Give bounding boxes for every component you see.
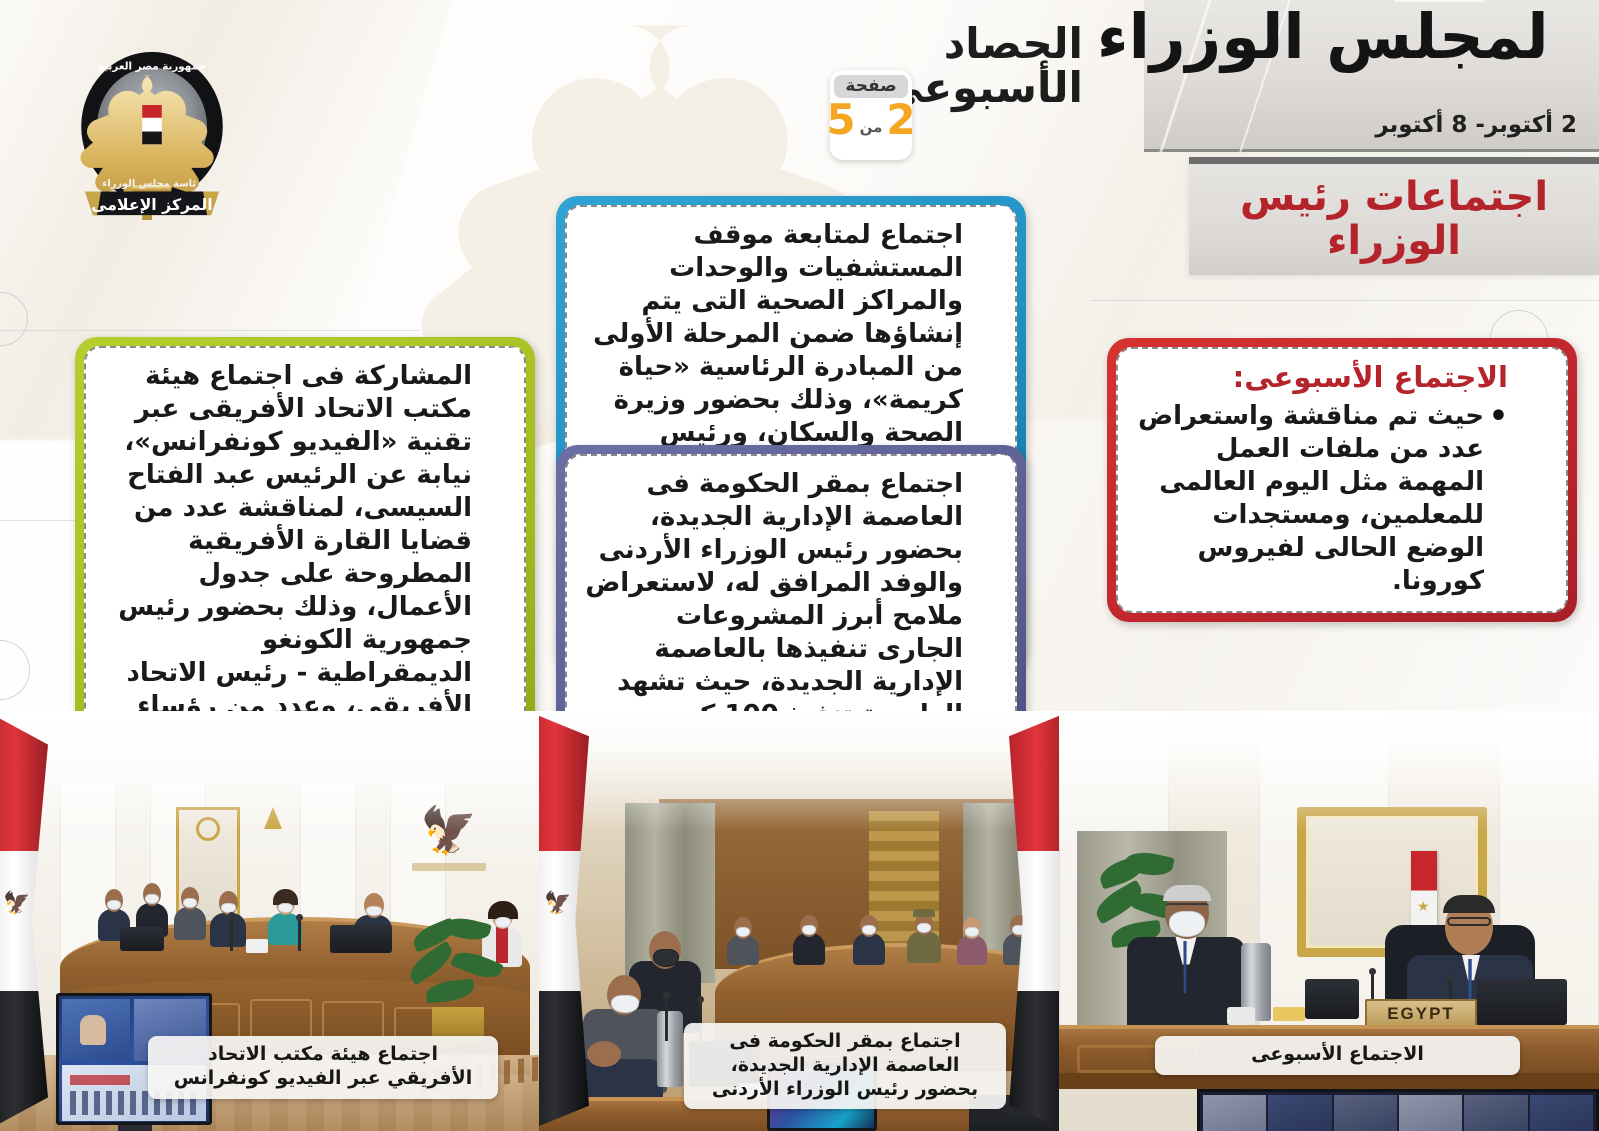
background-line-4 (1090, 300, 1599, 301)
page-title: لمجلس الوزراء الحصاد الأسبوعى (881, 6, 1581, 110)
card-number-3: 3 (985, 447, 1016, 503)
card-1-text: حيث تم مناقشة واستعراض عدد من ملفات العم… (1132, 400, 1508, 598)
card-weekly-meeting: 1 الاجتماع الأسبوعى: حيث تم مناقشة واستع… (1107, 338, 1577, 622)
wall-eagle-emblem-icon: 🦅 (404, 807, 494, 853)
title-big: لمجلس الوزراء (1097, 6, 1549, 68)
background-line-1 (0, 330, 420, 331)
infographic-canvas: جمهورية مصر العربية رئاسة مجلس الوزراء ا… (0, 0, 1599, 1131)
card-number-1: 1 (1534, 340, 1565, 396)
section-label: اجتماعات رئيس الوزراء (1189, 157, 1599, 275)
flag-eagle-icon-2: 🦅 (3, 893, 30, 915)
logo-ribbon-text: المركز الإعلامى (91, 195, 212, 214)
caption-new-capital: اجتماع بمقر الحكومة فى العاصمة الإدارية … (684, 1023, 1006, 1109)
flag-eagle-icon: 🦅 (544, 893, 571, 915)
page-indicator-current: 2 (886, 99, 915, 141)
caption-african-union: اجتماع هيئة مكتب الاتحاد الأفريقي عبر ال… (148, 1036, 498, 1099)
section-label-text: اجتماعات رئيس الوزراء (1189, 176, 1599, 262)
caption-weekly-meeting: الاجتماع الأسبوعى (1155, 1036, 1520, 1075)
logo-mid-text: رئاسة مجلس الوزراء (102, 179, 201, 190)
date-range: 2 أكتوبر- 8 أكتوبر (1375, 112, 1577, 138)
page-indicator: صفحة 2 من 5 (830, 70, 912, 160)
card-number-2: 2 (985, 198, 1016, 254)
page-indicator-of: من (858, 118, 885, 141)
logo-top-text: جمهورية مصر العربية (98, 61, 206, 73)
card-1-title: الاجتماع الأسبوعى: (1132, 361, 1508, 394)
page-indicator-total: 5 (826, 99, 855, 141)
title-small-line1: الحصاد (881, 22, 1083, 66)
card-number-4: 4 (494, 339, 525, 395)
cabinet-logo: جمهورية مصر العربية رئاسة مجلس الوزراء ا… (63, 48, 241, 220)
